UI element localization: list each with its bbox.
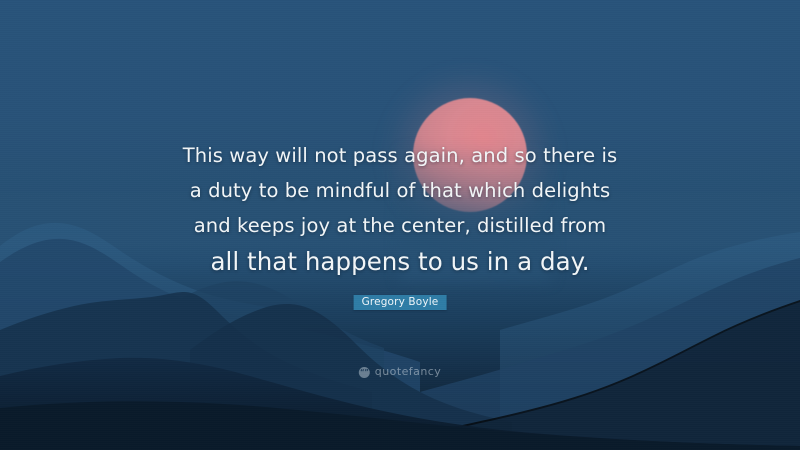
quote-line-2: a duty to be mindful of that which delig… xyxy=(0,173,800,208)
quotefancy-watermark: “” quotefancy xyxy=(359,366,441,378)
author-attribution-badge: Gregory Boyle xyxy=(354,295,447,310)
author-name: Gregory Boyle xyxy=(362,296,439,308)
quote-line-3: and keeps joy at the center, distilled f… xyxy=(0,208,800,243)
quote-line-1: This way will not pass again, and so the… xyxy=(0,138,800,173)
brand-name: quotefancy xyxy=(375,366,441,378)
quote-text-block: This way will not pass again, and so the… xyxy=(0,138,800,280)
quote-wallpaper: This way will not pass again, and so the… xyxy=(0,0,800,450)
quote-line-4: all that happens to us in a day. xyxy=(0,243,800,280)
quote-mark-glyph: “” xyxy=(360,369,369,376)
quote-mark-icon: “” xyxy=(359,367,370,378)
